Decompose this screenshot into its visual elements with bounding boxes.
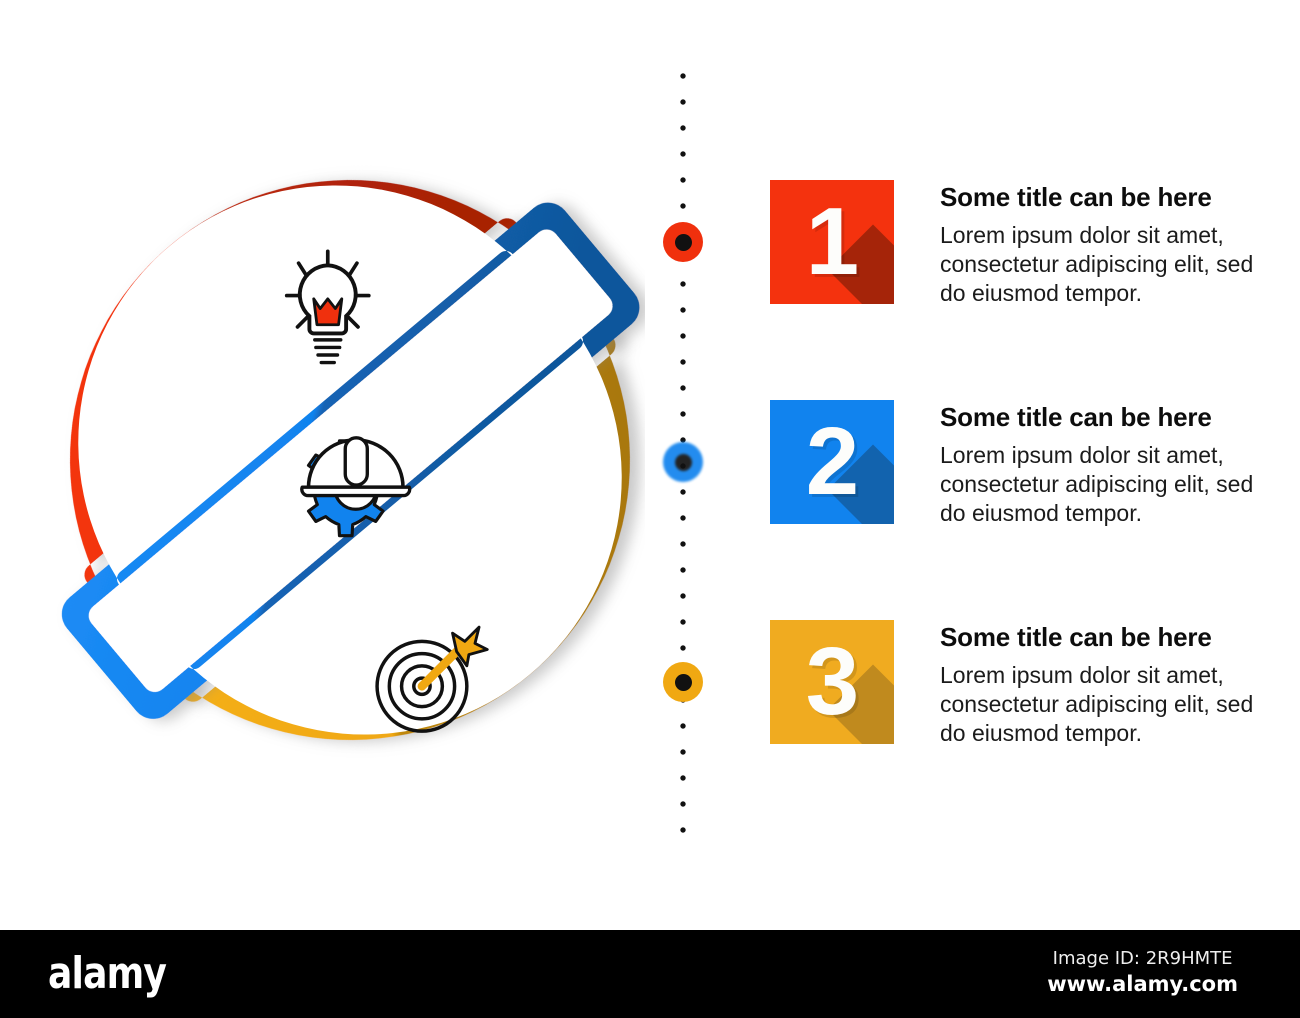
step-description-2: Lorem ipsum dolor sit amet, consectetur …: [940, 441, 1270, 529]
step-number-1: 1: [806, 194, 858, 290]
timeline-dot-3[interactable]: [663, 662, 703, 702]
timeline-dot-2[interactable]: [663, 442, 703, 482]
step-text-block-3: Some title can be here Lorem ipsum dolor…: [940, 620, 1270, 749]
alamy-logo: alamy: [48, 952, 166, 996]
step-number-3: 3: [806, 634, 858, 730]
step-number-tile-2: 2: [770, 400, 894, 524]
step-item-2[interactable]: 2 Some title can be here Lorem ipsum dol…: [770, 400, 1270, 529]
dotted-timeline: [679, 72, 687, 852]
step-number-tile-1: 1: [770, 180, 894, 304]
step-number-2: 2: [806, 414, 858, 510]
watermark-footer: alamy Image ID: 2R9HMTE www.alamy.com: [0, 930, 1300, 1018]
step-number-tile-3: 3: [770, 620, 894, 744]
step-text-block-2: Some title can be here Lorem ipsum dolor…: [940, 400, 1270, 529]
watermark-meta: Image ID: 2R9HMTE www.alamy.com: [1047, 948, 1238, 996]
step-title-2: Some title can be here: [940, 402, 1270, 433]
step-text-block-1: Some title can be here Lorem ipsum dolor…: [940, 180, 1270, 309]
step-item-1[interactable]: 1 Some title can be here Lorem ipsum dol…: [770, 180, 1270, 309]
step-title-3: Some title can be here: [940, 622, 1270, 653]
step-description-1: Lorem ipsum dolor sit amet, consectetur …: [940, 221, 1270, 309]
diagram-svg: [55, 55, 645, 865]
image-id-label: Image ID: 2R9HMTE: [1047, 948, 1238, 969]
timeline-dot-1[interactable]: [663, 222, 703, 262]
step-item-3[interactable]: 3 Some title can be here Lorem ipsum dol…: [770, 620, 1270, 749]
infographic-canvas: 1 Some title can be here Lorem ipsum dol…: [0, 0, 1300, 930]
step-title-1: Some title can be here: [940, 182, 1270, 213]
three-segment-circle-diagram: [55, 55, 645, 865]
step-description-3: Lorem ipsum dolor sit amet, consectetur …: [940, 661, 1270, 749]
alamy-url: www.alamy.com: [1047, 972, 1238, 996]
